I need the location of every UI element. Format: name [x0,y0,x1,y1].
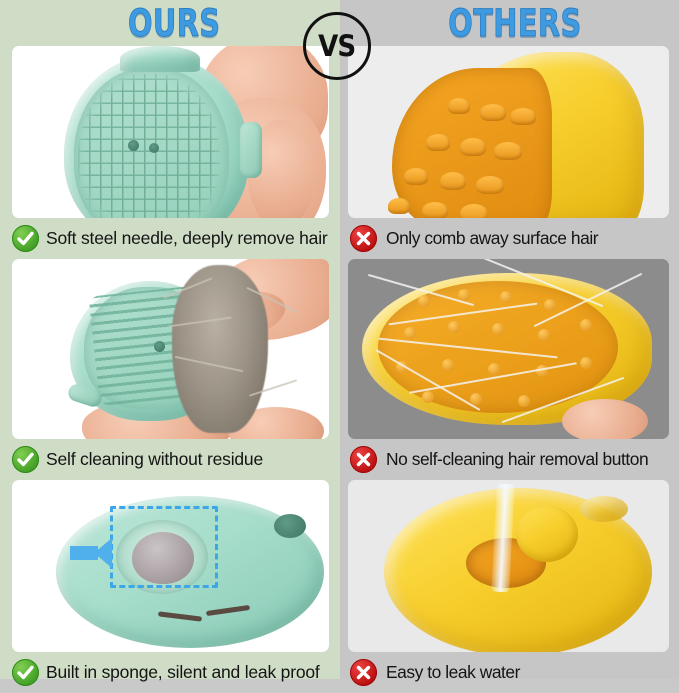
others-header: OTHERS [340,0,679,46]
column-ours: OURS [0,0,340,679]
x-circle-icon [350,446,377,473]
others-caption-3-text: Easy to leak water [386,662,520,683]
others-caption-1-text: Only comb away surface hair [386,228,598,249]
sponge-annotation-box [110,506,218,588]
ours-row-2: Self cleaning without residue [0,259,340,480]
ours-rows: Soft steel needle, deeply remove hair [0,46,340,693]
ours-image-3 [12,480,329,652]
others-caption-2: No self-cleaning hair removal button [340,439,679,480]
ours-image-1 [12,46,329,218]
check-circle-icon [12,446,39,473]
annotation-arrow-head [94,538,112,568]
others-row-3: Easy to leak water [340,480,679,693]
column-others: OTHERS [340,0,679,679]
ours-image-2 [12,259,329,439]
ours-caption-2: Self cleaning without residue [0,439,340,480]
others-caption-2-text: No self-cleaning hair removal button [386,449,648,470]
ours-caption-3: Built in sponge, silent and leak proof [0,652,340,693]
ours-caption-1-text: Soft steel needle, deeply remove hair [46,228,328,249]
others-caption-1: Only comb away surface hair [340,218,679,259]
ours-caption-1: Soft steel needle, deeply remove hair [0,218,340,259]
vs-badge: VS [303,12,371,80]
check-circle-icon [12,225,39,252]
comparison-infographic: OURS [0,0,679,679]
others-title: OTHERS [437,2,581,45]
others-image-3 [348,480,669,652]
others-row-1: Only comb away surface hair [340,46,679,259]
ours-title: OURS [120,2,220,45]
x-circle-icon [350,659,377,686]
others-image-2 [348,259,669,439]
ours-caption-2-text: Self cleaning without residue [46,449,263,470]
ours-row-3: Built in sponge, silent and leak proof [0,480,340,693]
ours-row-1: Soft steel needle, deeply remove hair [0,46,340,259]
others-image-1 [348,46,669,218]
others-rows: Only comb away surface hair [340,46,679,693]
check-circle-icon [12,659,39,686]
x-circle-icon [350,225,377,252]
others-caption-3: Easy to leak water [340,652,679,693]
ours-caption-3-text: Built in sponge, silent and leak proof [46,662,320,683]
others-row-2: No self-cleaning hair removal button [340,259,679,480]
ours-header: OURS [0,0,340,46]
vs-label: VS [318,29,355,63]
